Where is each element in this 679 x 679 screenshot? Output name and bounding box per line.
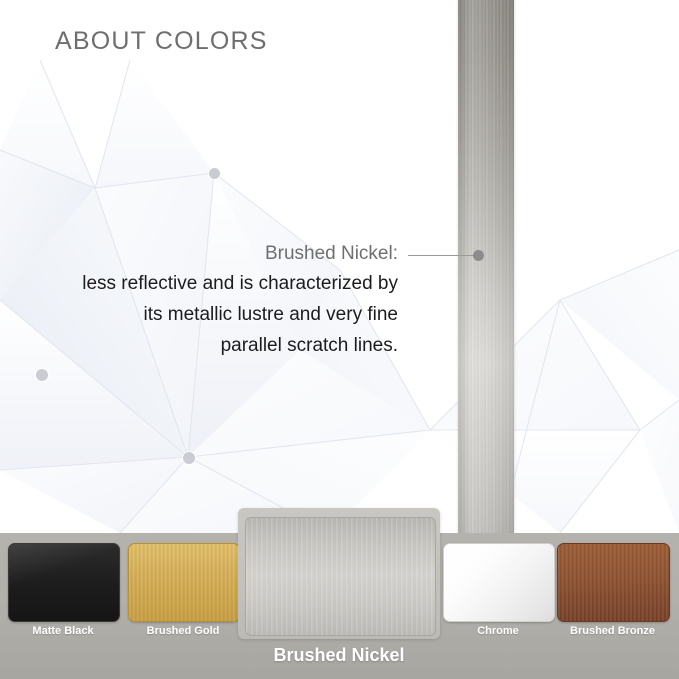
callout-heading: Brushed Nickel:	[40, 240, 398, 268]
vertex-dot-1	[209, 168, 220, 179]
swatch-matte-black-chip[interactable]	[8, 543, 120, 622]
swatch-brushed-nickel-chip[interactable]	[245, 517, 436, 636]
swatch-brushed-bronze-chip[interactable]	[557, 543, 670, 622]
about-colors-infographic: ABOUT COLORS Brushed Nickel: less reflec…	[0, 0, 679, 679]
callout-leader-line	[408, 255, 476, 256]
callout-line-2: its metallic lustre and very fine	[40, 299, 398, 330]
brushed-nickel-strip	[458, 0, 514, 533]
callout-leader-dot	[473, 250, 484, 261]
page-title: ABOUT COLORS	[55, 27, 268, 56]
callout-line-1: less reflective and is characterized by	[40, 268, 398, 299]
swatch-matte-black-label: Matte Black	[8, 625, 118, 637]
swatch-brushed-gold-chip[interactable]	[128, 543, 240, 622]
vertex-dot-3	[183, 452, 195, 464]
callout-text-block: Brushed Nickel: less reflective and is c…	[40, 240, 398, 361]
swatch-chrome-label: Chrome	[443, 625, 553, 637]
swatch-brushed-nickel-label: Brushed Nickel	[238, 645, 440, 666]
vertex-dot-2	[36, 369, 48, 381]
swatch-brushed-gold-label: Brushed Gold	[128, 625, 238, 637]
swatch-brushed-bronze-label: Brushed Bronze	[557, 625, 668, 637]
swatch-chrome-chip[interactable]	[443, 543, 555, 622]
callout-line-3: parallel scratch lines.	[40, 330, 398, 361]
